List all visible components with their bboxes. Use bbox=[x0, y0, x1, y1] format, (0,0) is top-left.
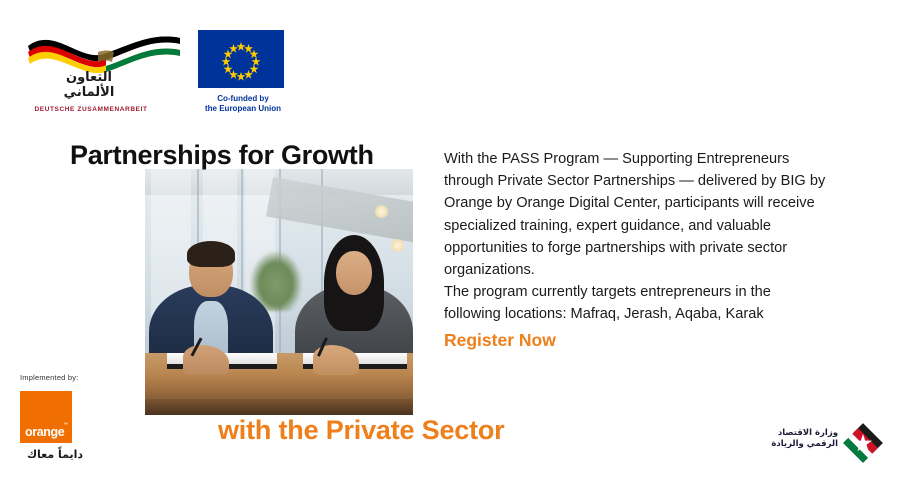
body-copy: With the PASS Program — Supporting Entre… bbox=[444, 148, 830, 352]
photo-ceiling-light bbox=[375, 205, 388, 218]
orange-trademark-symbol: ™ bbox=[63, 422, 68, 428]
hero-photo bbox=[145, 169, 413, 415]
ministry-logo: وزارة الاقتصاد الرقمي والريادة bbox=[758, 420, 884, 472]
register-now-link[interactable]: Register Now bbox=[444, 328, 830, 352]
orange-tagline-arabic: دايماً معاك bbox=[20, 448, 90, 461]
photo-person-female bbox=[295, 237, 413, 363]
german-cooperation-latin-text: DEUTSCHE ZUSAMMENARBEIT bbox=[26, 106, 156, 113]
eu-cofunding-logo: Co-funded by the European Union bbox=[198, 30, 288, 114]
implemented-by-block: Implemented by: orange ™ دايماً معاك bbox=[20, 373, 90, 461]
orange-logo: orange ™ bbox=[20, 391, 72, 443]
photo-male-hair bbox=[187, 241, 235, 267]
photo-person-male bbox=[149, 239, 273, 363]
jordan-ministry-emblem-icon bbox=[842, 420, 884, 466]
orange-logo-wordmark: orange bbox=[25, 425, 64, 439]
german-cooperation-arabic-text: التعاون الألماني bbox=[34, 70, 144, 100]
photo-table-edge bbox=[145, 399, 413, 415]
body-paragraph-2: The program currently targets entreprene… bbox=[444, 281, 830, 325]
body-paragraph-1: With the PASS Program — Supporting Entre… bbox=[444, 148, 830, 281]
poster-headline: Partnerships for Growth bbox=[70, 140, 374, 171]
european-union-flag-icon bbox=[198, 30, 284, 88]
ministry-logo-text: وزارة الاقتصاد الرقمي والريادة bbox=[760, 428, 838, 450]
poster-subheadline: with the Private Sector bbox=[218, 415, 504, 446]
implemented-by-label: Implemented by: bbox=[20, 373, 90, 382]
photo-female-face bbox=[336, 251, 372, 295]
eu-cofunding-caption: Co-funded by the European Union bbox=[198, 94, 288, 114]
poster-canvas: التعاون الألماني DEUTSCHE ZUSAMMENARBEIT bbox=[0, 0, 900, 481]
german-cooperation-logo: التعاون الألماني DEUTSCHE ZUSAMMENARBEIT bbox=[24, 28, 184, 120]
german-jordan-flag-ribbon-icon bbox=[24, 28, 184, 73]
